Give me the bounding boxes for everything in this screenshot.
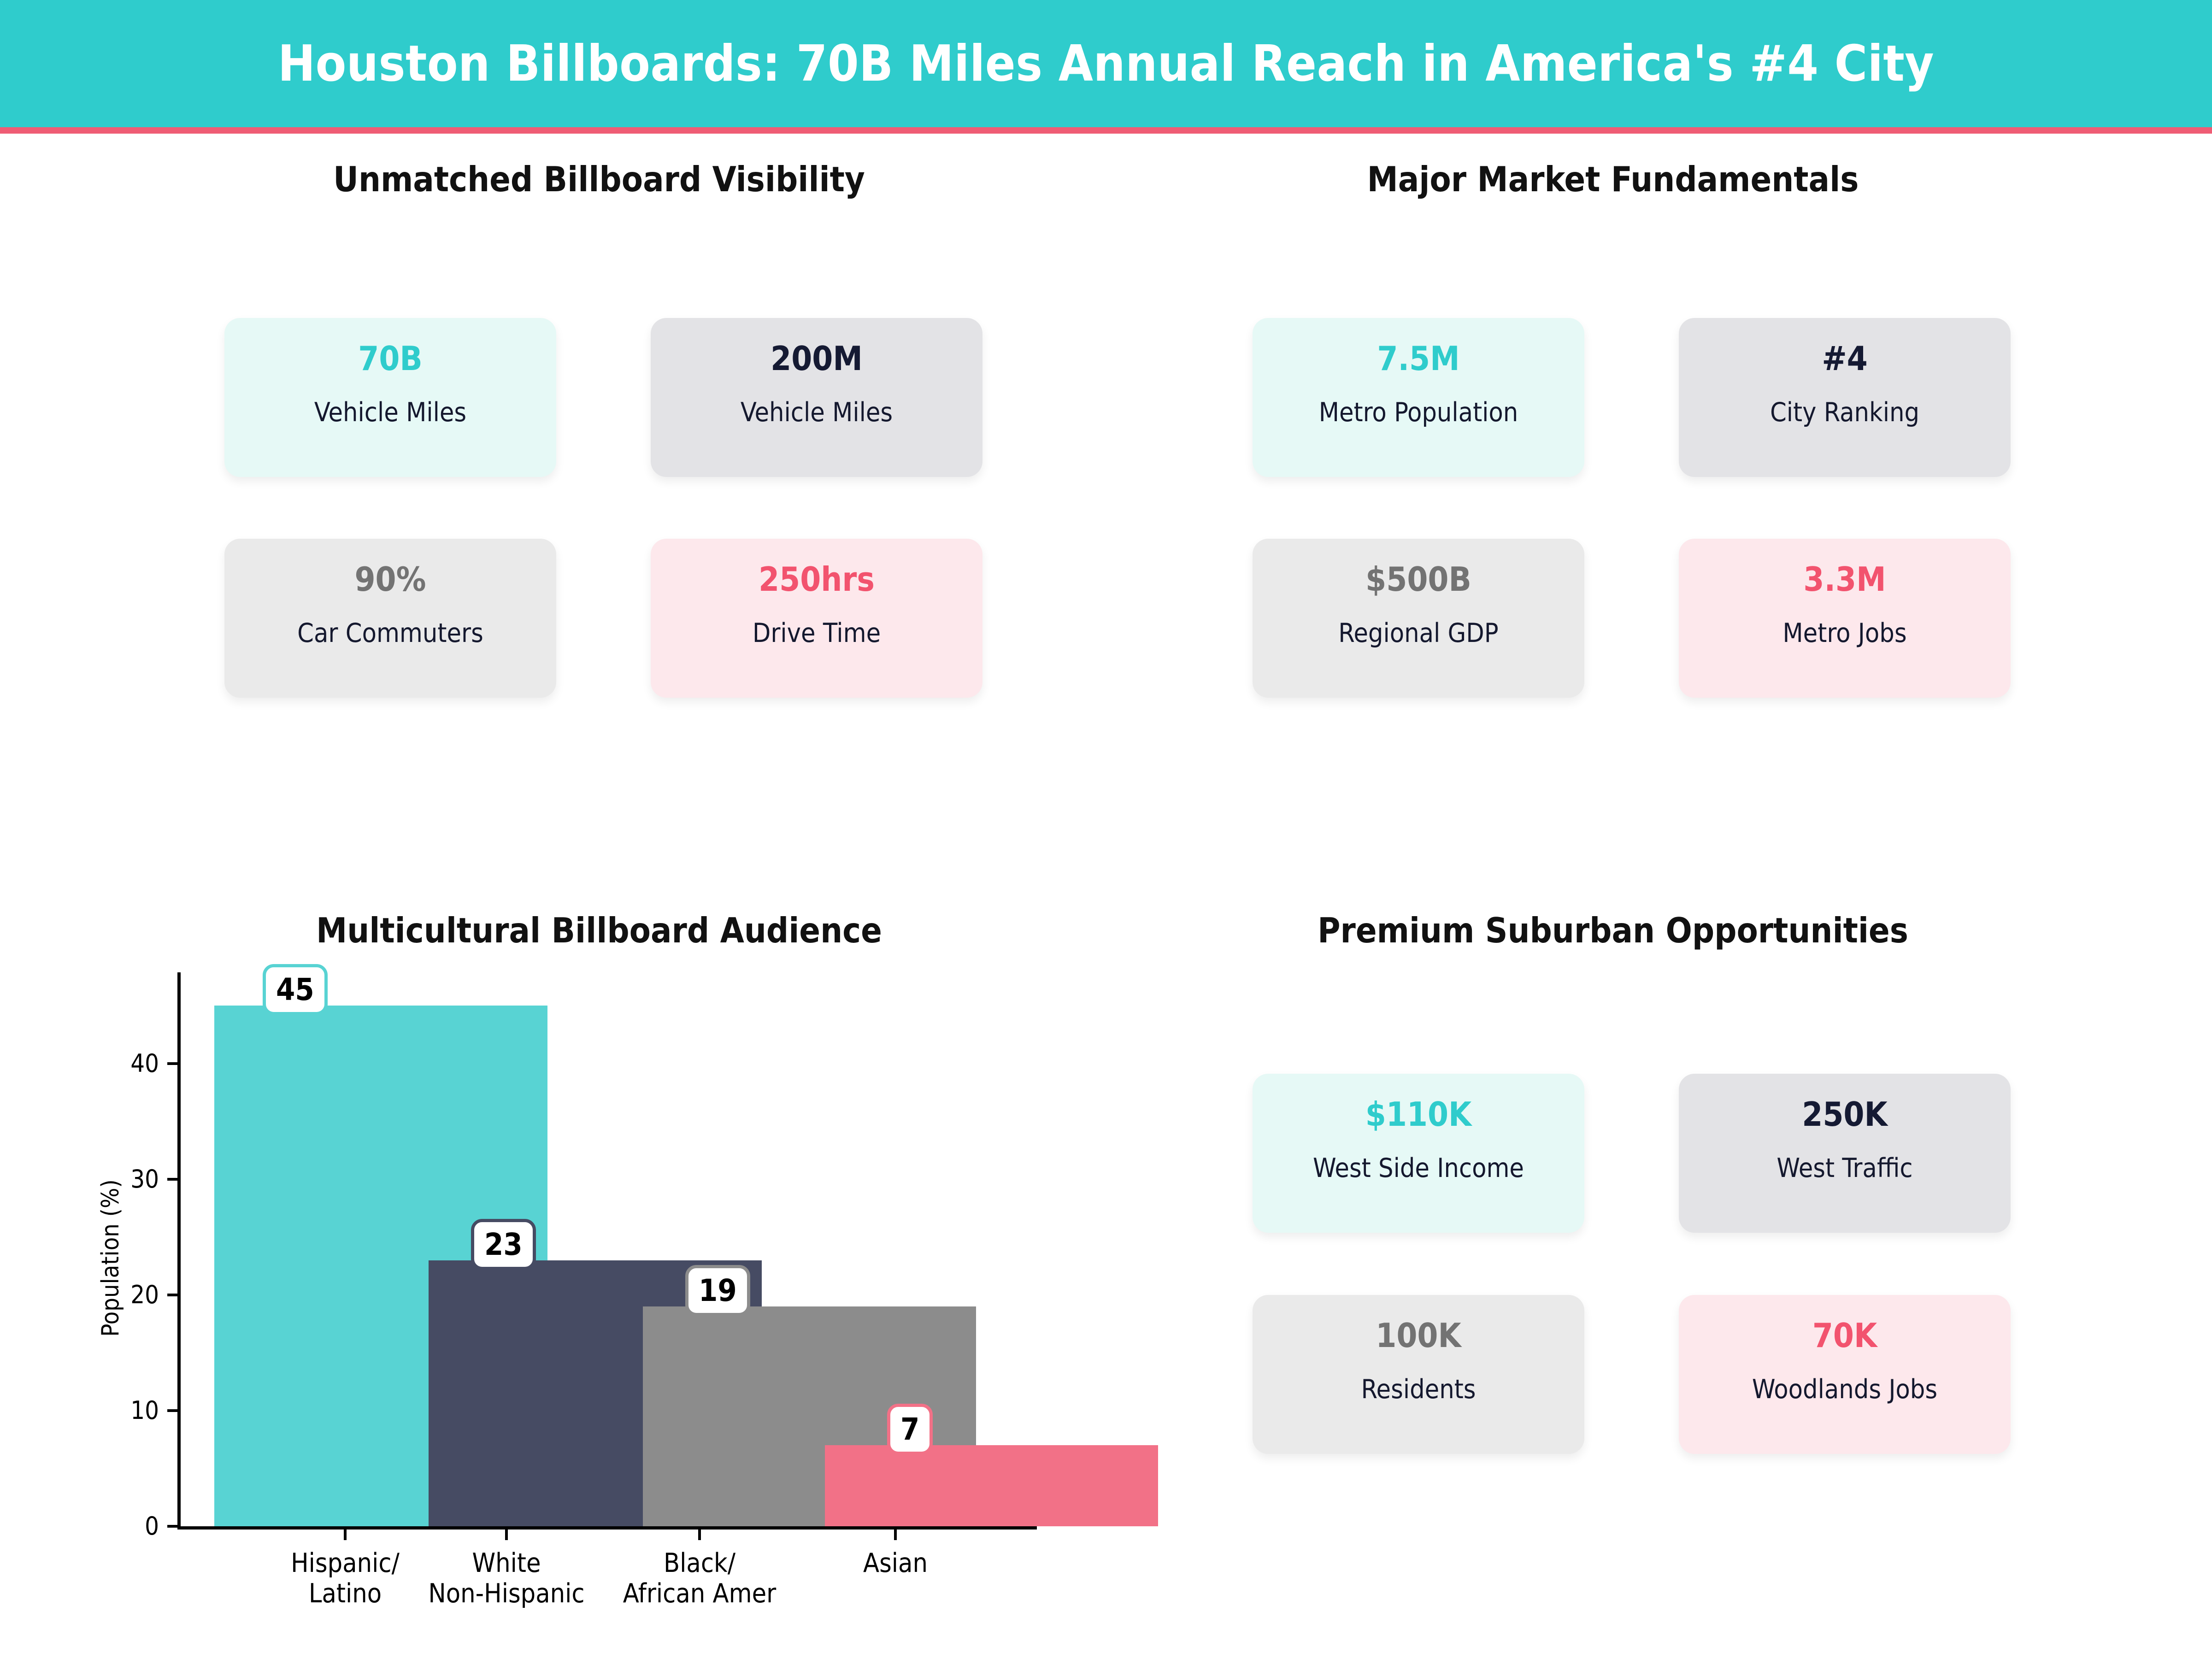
kpi-label: Metro Population [1319, 397, 1518, 428]
bar-data-label-white-non-hispanic: 23 [471, 1219, 536, 1270]
bar-data-label-hispanic-latino: 45 [263, 964, 328, 1015]
kpi-card-west-traffic: 250K West Traffic [1679, 1074, 2011, 1233]
kpi-card-woodlands-jobs: 70K Woodlands Jobs [1679, 1295, 2011, 1454]
kpi-card-residents: 100K Residents [1253, 1295, 1584, 1454]
y-tick-mark-40 [167, 1062, 178, 1065]
panel-title-market-fundamentals: Major Market Fundamentals [1106, 159, 2120, 200]
kpi-label: Woodlands Jobs [1752, 1374, 1937, 1405]
x-tick-label-asian: Asian [757, 1548, 1034, 1579]
y-tick-mark-10 [167, 1409, 178, 1412]
kpi-value: 3.3M [1803, 563, 1886, 596]
kpi-value: 250K [1802, 1098, 1887, 1131]
kpi-label: Metro Jobs [1783, 618, 1906, 648]
panel-title-suburban-opportunities: Premium Suburban Opportunities [1106, 910, 2120, 951]
y-tick-mark-30 [167, 1178, 178, 1181]
kpi-card-regional-gdp: $500B Regional GDP [1253, 539, 1584, 698]
x-tick-mark-0 [344, 1528, 347, 1540]
kpi-card-metro-population: 7.5M Metro Population [1253, 318, 1584, 477]
y-tick-label-30: 30 [74, 1165, 159, 1194]
kpi-label: West Traffic [1777, 1153, 1912, 1183]
y-tick-label-20: 20 [74, 1280, 159, 1309]
kpi-card-metro-jobs: 3.3M Metro Jobs [1679, 539, 2011, 698]
x-tick-mark-1 [505, 1528, 508, 1540]
kpi-value: 7.5M [1377, 342, 1459, 375]
kpi-value: #4 [1822, 342, 1867, 375]
kpi-label: City Ranking [1770, 397, 1919, 428]
y-tick-label-40: 40 [74, 1049, 159, 1078]
kpi-value: $500B [1365, 563, 1471, 596]
kpi-label: West Side Income [1313, 1153, 1524, 1183]
y-tick-label-0: 0 [74, 1512, 159, 1541]
kpi-value: 100K [1376, 1319, 1461, 1352]
bar-data-label-black-african-amer: 19 [685, 1265, 750, 1316]
kpi-label: Regional GDP [1338, 618, 1498, 648]
x-axis-spine [177, 1526, 1037, 1530]
y-tick-mark-20 [167, 1294, 178, 1296]
y-axis-spine [177, 972, 181, 1530]
kpi-label: Residents [1361, 1374, 1476, 1405]
bar-asian[interactable] [825, 1445, 1158, 1526]
kpi-value: $110K [1365, 1098, 1471, 1131]
kpi-card-city-ranking: #4 City Ranking [1679, 318, 2011, 477]
y-tick-mark-0 [167, 1525, 178, 1528]
x-tick-mark-2 [698, 1528, 701, 1540]
bar-data-label-asian: 7 [887, 1404, 933, 1455]
kpi-card-west-side-income: $110K West Side Income [1253, 1074, 1584, 1233]
kpi-value: 70K [1812, 1319, 1877, 1352]
x-tick-mark-3 [894, 1528, 897, 1540]
bar-chart: Population (%) 0 10 20 30 40 45 23 19 7 [0, 0, 1106, 1659]
y-tick-label-10: 10 [74, 1396, 159, 1425]
